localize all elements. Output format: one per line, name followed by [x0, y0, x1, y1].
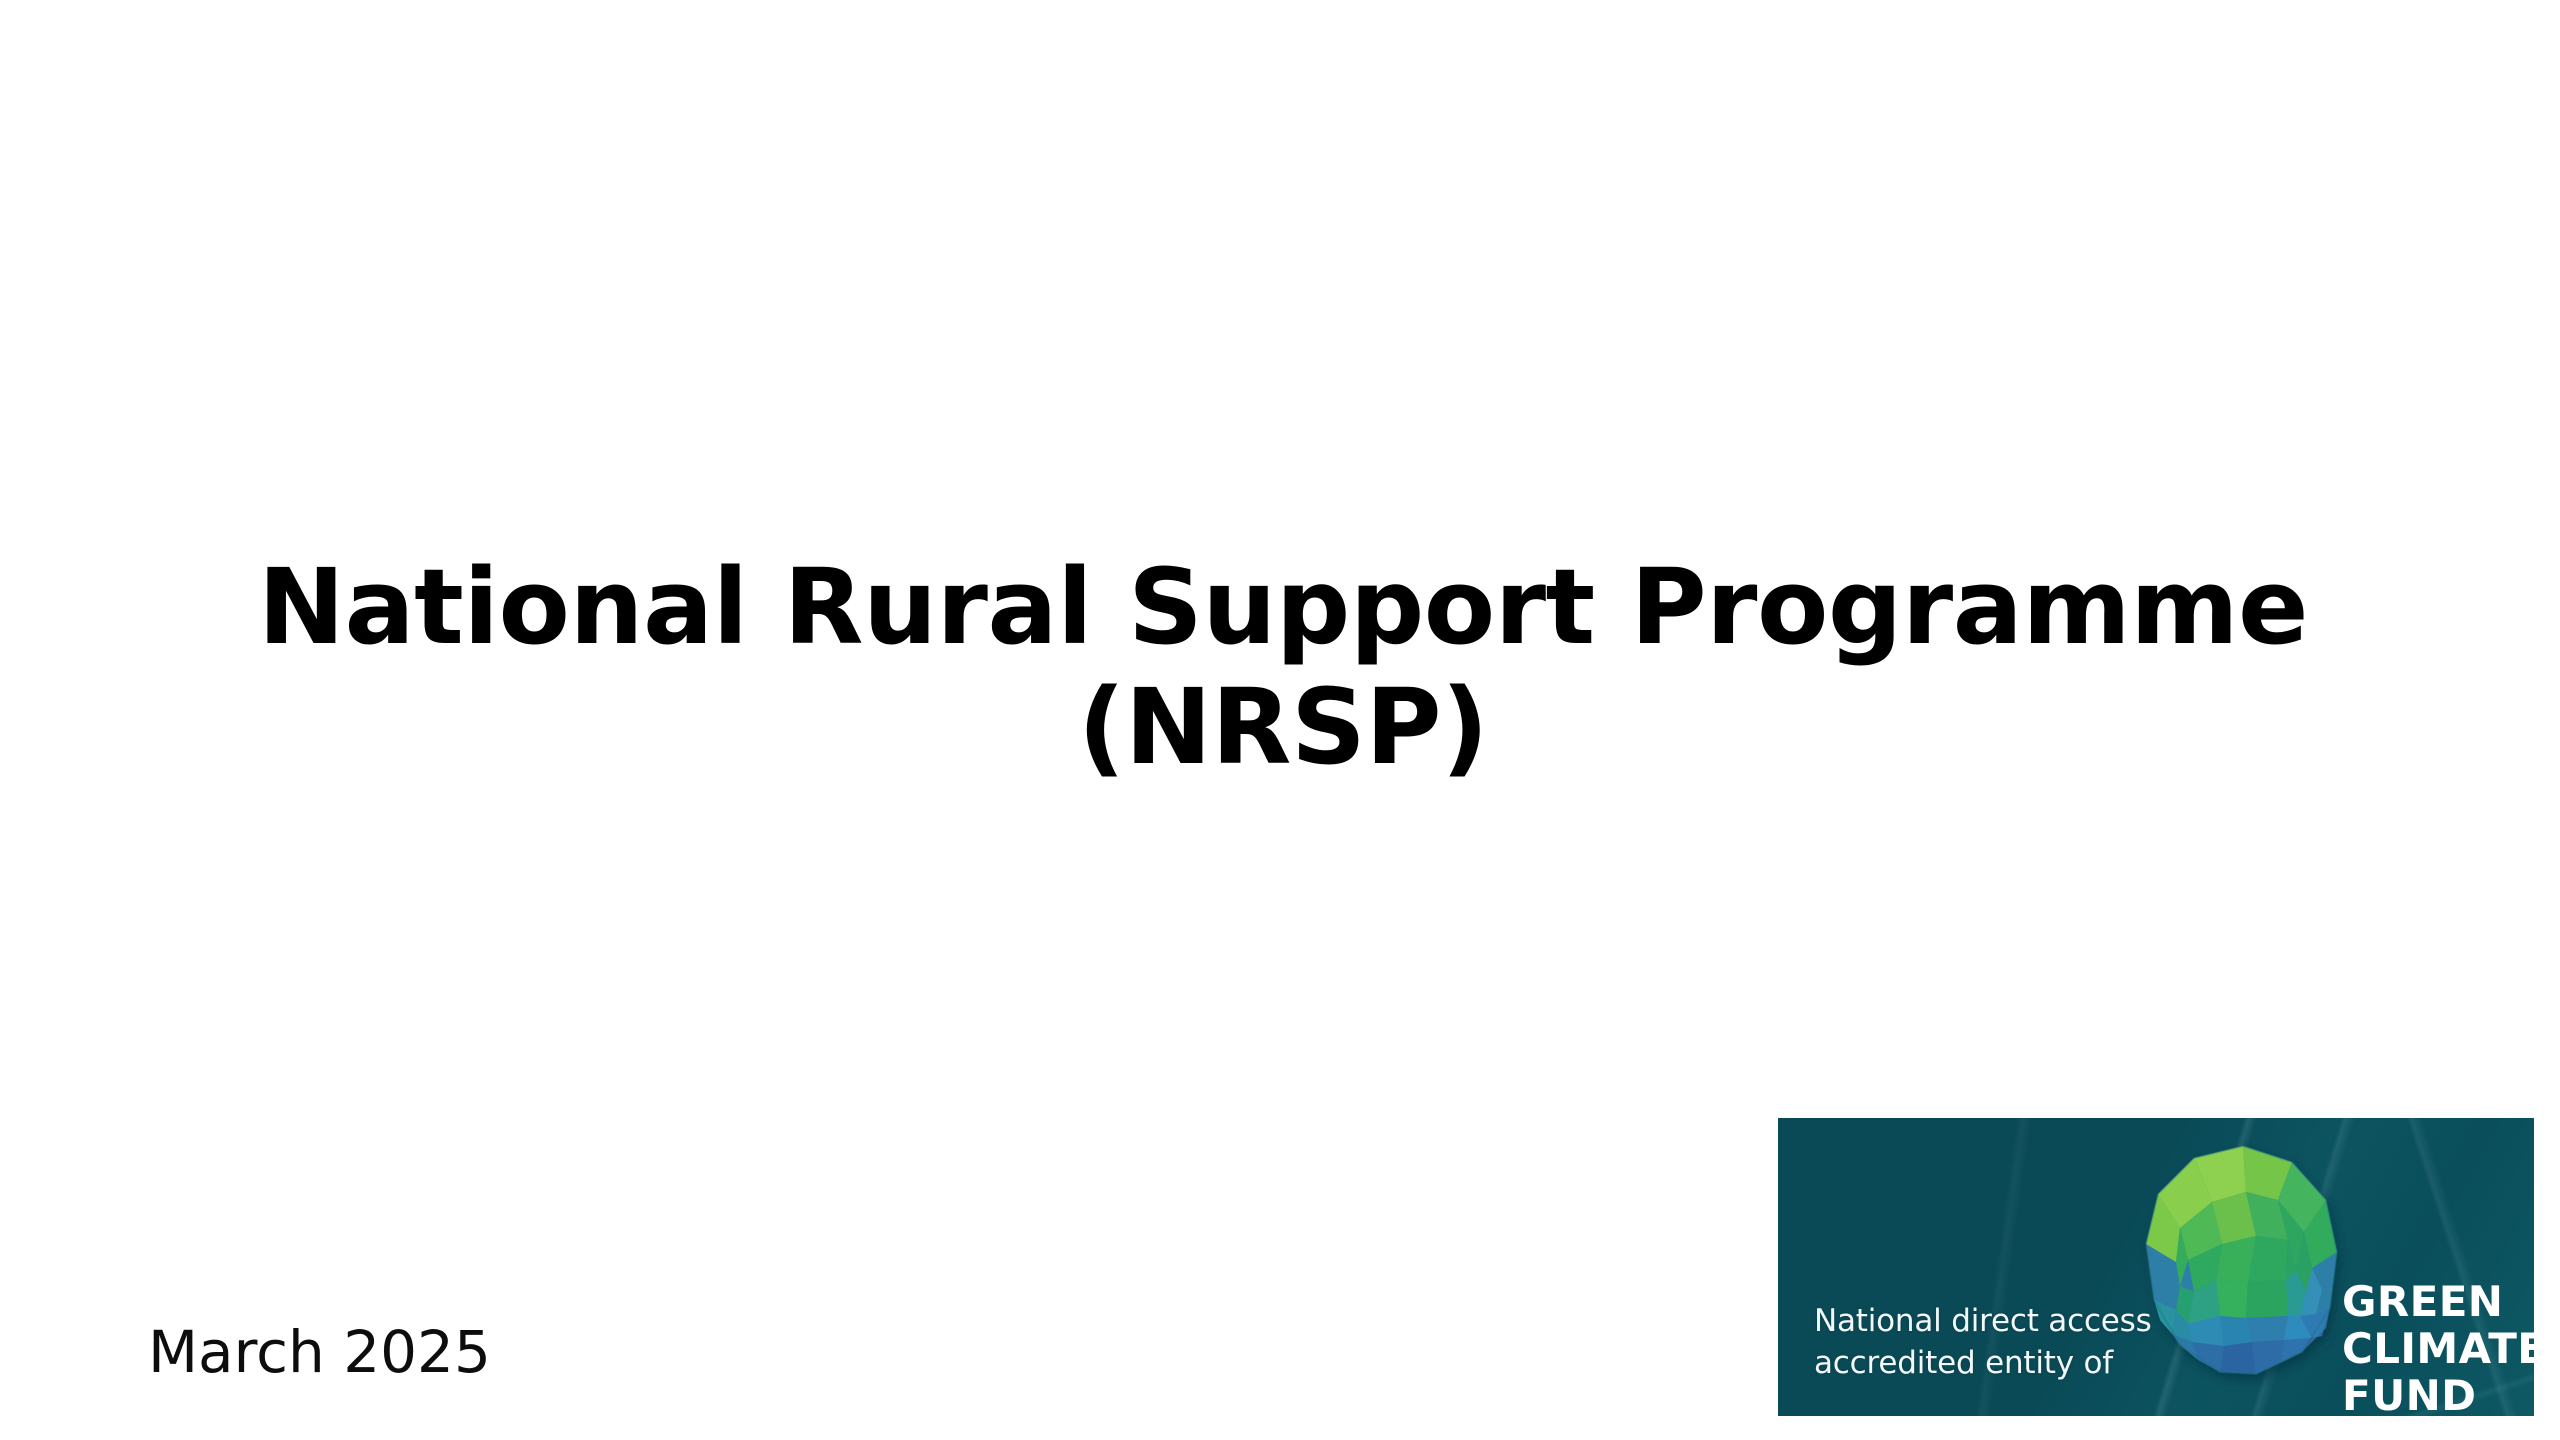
title-line-two: (NRSP)	[148, 668, 2418, 788]
title-line-one: National Rural Support Programme	[148, 548, 2418, 668]
gcf-wordmark: GREEN CLIMATE FUND	[2342, 1278, 2534, 1416]
gcf-wordmark-line-two: CLIMATE	[2342, 1325, 2534, 1372]
gcf-tagline-line-one: National direct access	[1814, 1300, 2152, 1342]
gcf-tagline-line-two: accredited entity of	[1814, 1342, 2152, 1384]
gcf-wordmark-line-one: GREEN	[2342, 1278, 2534, 1325]
gcf-wordmark-line-three: FUND	[2342, 1372, 2534, 1416]
gcf-logo-badge: National direct access accredited entity…	[1778, 1118, 2534, 1416]
page-title: National Rural Support Programme (NRSP)	[148, 548, 2418, 787]
gcf-tagline: National direct access accredited entity…	[1814, 1300, 2152, 1384]
slide-canvas: National Rural Support Programme (NRSP) …	[0, 0, 2560, 1440]
polygonal-globe-icon	[2136, 1140, 2350, 1386]
slide-date: March 2025	[148, 1321, 491, 1385]
